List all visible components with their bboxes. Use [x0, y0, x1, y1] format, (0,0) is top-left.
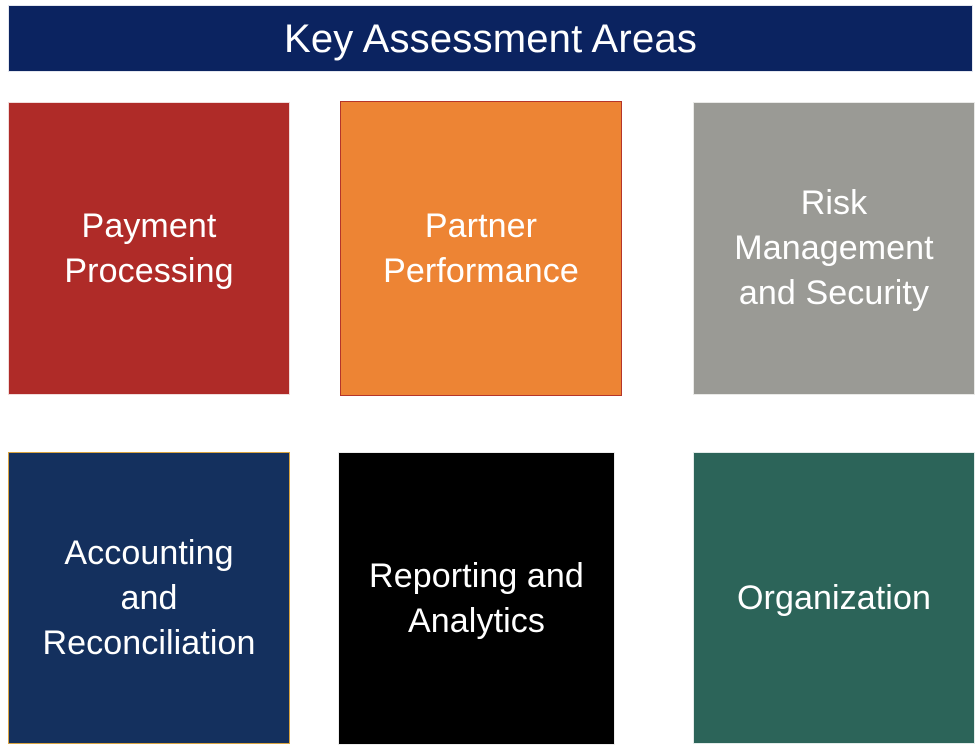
title-banner: Key Assessment Areas	[8, 5, 973, 72]
card-label-organization: Organization	[737, 576, 931, 621]
card-label-payment-processing: Payment Processing	[64, 204, 233, 294]
card-label-accounting-and-reconciliation: Accounting and Reconciliation	[42, 531, 255, 666]
card-risk-management-and-security[interactable]: Risk Management and Security	[693, 102, 975, 395]
card-accounting-and-reconciliation[interactable]: Accounting and Reconciliation	[8, 452, 290, 744]
card-label-partner-performance: Partner Performance	[383, 204, 579, 294]
card-label-risk-management-and-security: Risk Management and Security	[734, 181, 933, 316]
card-label-reporting-and-analytics: Reporting and Analytics	[369, 554, 584, 644]
slide-canvas: Key Assessment Areas Payment Processing …	[0, 0, 980, 751]
page-title: Key Assessment Areas	[284, 17, 697, 61]
card-payment-processing[interactable]: Payment Processing	[8, 102, 290, 395]
card-partner-performance[interactable]: Partner Performance	[340, 101, 622, 396]
card-organization[interactable]: Organization	[693, 452, 975, 744]
card-reporting-and-analytics[interactable]: Reporting and Analytics	[338, 452, 615, 745]
